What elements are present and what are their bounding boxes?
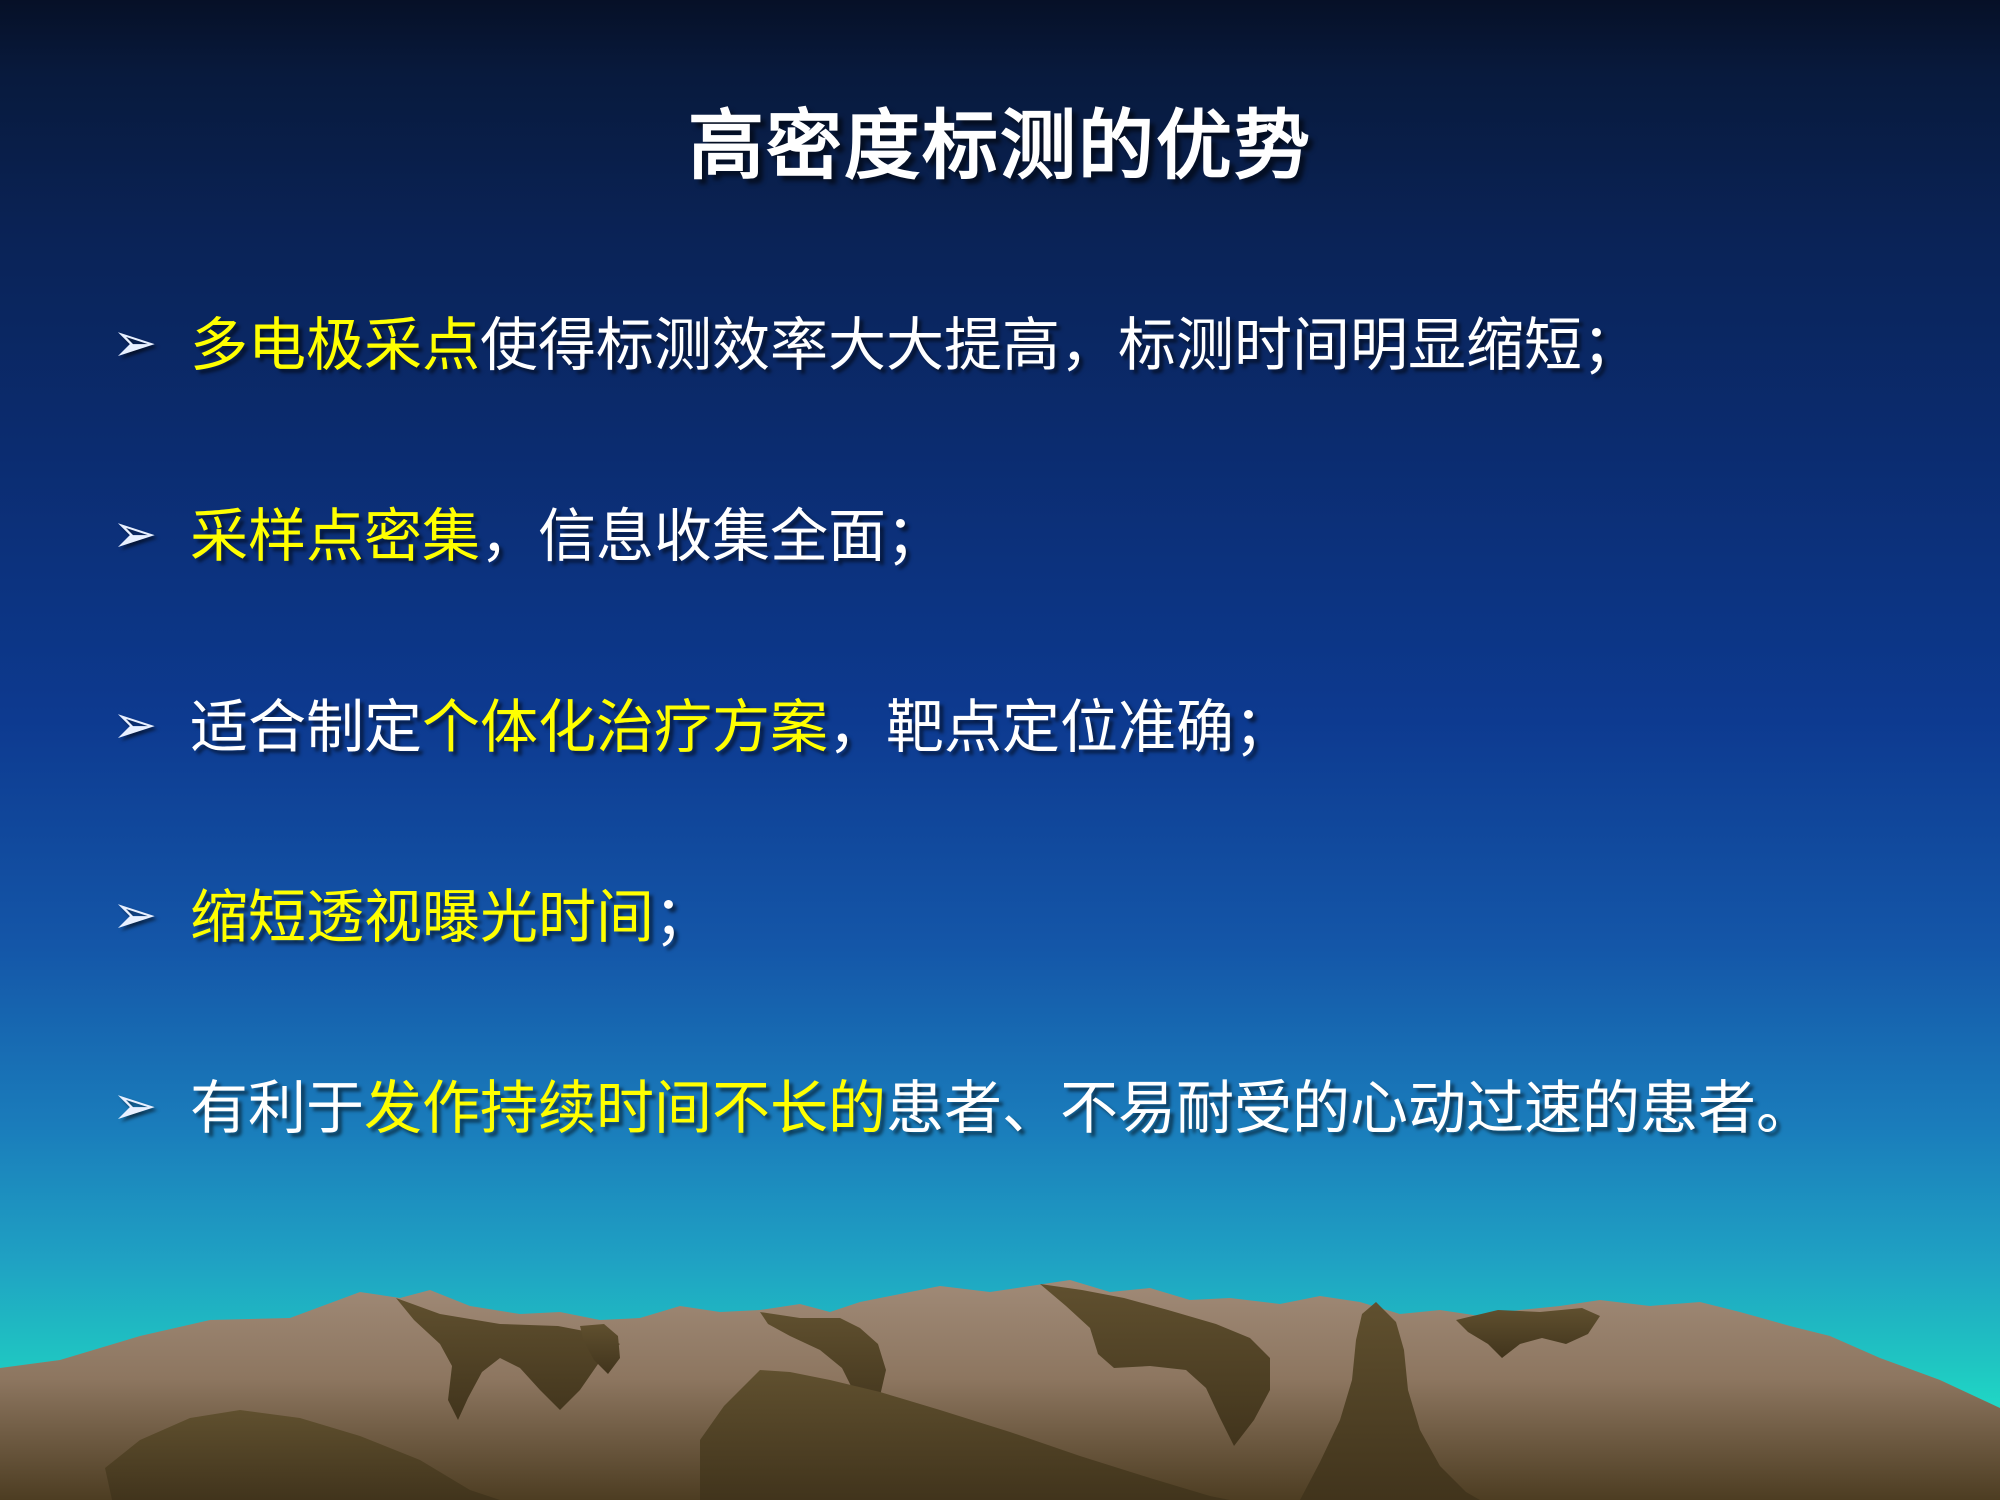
- bullet-arrow-icon: ➢: [112, 692, 190, 758]
- list-item-segment-terminator: ；: [1234, 693, 1292, 761]
- list-item-text: 采样点密集，信息收集全面；: [190, 501, 1912, 572]
- bullet-arrow-icon: ➢: [112, 1073, 190, 1139]
- list-item-segment-normal: 使得标测效率大大提高，标测时间明显缩短: [480, 311, 1582, 379]
- list-item-segment-terminator: ；: [654, 883, 712, 951]
- bullet-arrow-icon: ➢: [112, 882, 190, 948]
- list-item-segment-normal-2: 患者、不易耐受的心动过速的患者。: [886, 1074, 1814, 1142]
- list-item[interactable]: ➢ 采样点密集，信息收集全面；: [112, 501, 1912, 572]
- list-item-segment-highlight: 多电极采点: [190, 311, 480, 379]
- mountain-range-decoration: [0, 1240, 2000, 1500]
- list-item-segment-normal: 适合制定: [190, 693, 422, 761]
- bullet-arrow-icon: ➢: [112, 310, 190, 376]
- list-item-segment-normal-2: ，靶点定位准确: [828, 693, 1234, 761]
- bullet-arrow-icon: ➢: [112, 501, 190, 567]
- list-item-segment-highlight: 采样点密集: [190, 502, 480, 570]
- list-item-segment-terminator: ；: [1582, 311, 1640, 379]
- slide-canvas: 高密度标测的优势 ➢ 多电极采点使得标测效率大大提高，标测时间明显缩短； ➢ 采…: [0, 0, 2000, 1500]
- list-item[interactable]: ➢ 缩短透视曝光时间；: [112, 882, 1912, 953]
- list-item[interactable]: ➢ 有利于发作持续时间不长的患者、不易耐受的心动过速的患者。: [112, 1073, 1912, 1144]
- bullet-list: ➢ 多电极采点使得标测效率大大提高，标测时间明显缩短； ➢ 采样点密集，信息收集…: [112, 310, 1912, 1144]
- list-item[interactable]: ➢ 多电极采点使得标测效率大大提高，标测时间明显缩短；: [112, 310, 1912, 381]
- list-item-segment-highlight: 缩短透视曝光时间: [190, 883, 654, 951]
- list-item-segment-terminator: ；: [886, 502, 944, 570]
- page-title: 高密度标测的优势: [0, 108, 2000, 184]
- list-item-segment-normal: 有利于: [190, 1074, 364, 1142]
- list-item-segment-highlight: 个体化治疗方案: [422, 693, 828, 761]
- list-item-text: 有利于发作持续时间不长的患者、不易耐受的心动过速的患者。: [190, 1073, 1912, 1144]
- list-item-text: 适合制定个体化治疗方案，靶点定位准确；: [190, 692, 1912, 763]
- list-item-text: 缩短透视曝光时间；: [190, 882, 1912, 953]
- list-item-text: 多电极采点使得标测效率大大提高，标测时间明显缩短；: [190, 310, 1912, 381]
- list-item-segment-normal: ，信息收集全面: [480, 502, 886, 570]
- list-item-segment-highlight: 发作持续时间不长的: [364, 1074, 886, 1142]
- list-item[interactable]: ➢ 适合制定个体化治疗方案，靶点定位准确；: [112, 692, 1912, 763]
